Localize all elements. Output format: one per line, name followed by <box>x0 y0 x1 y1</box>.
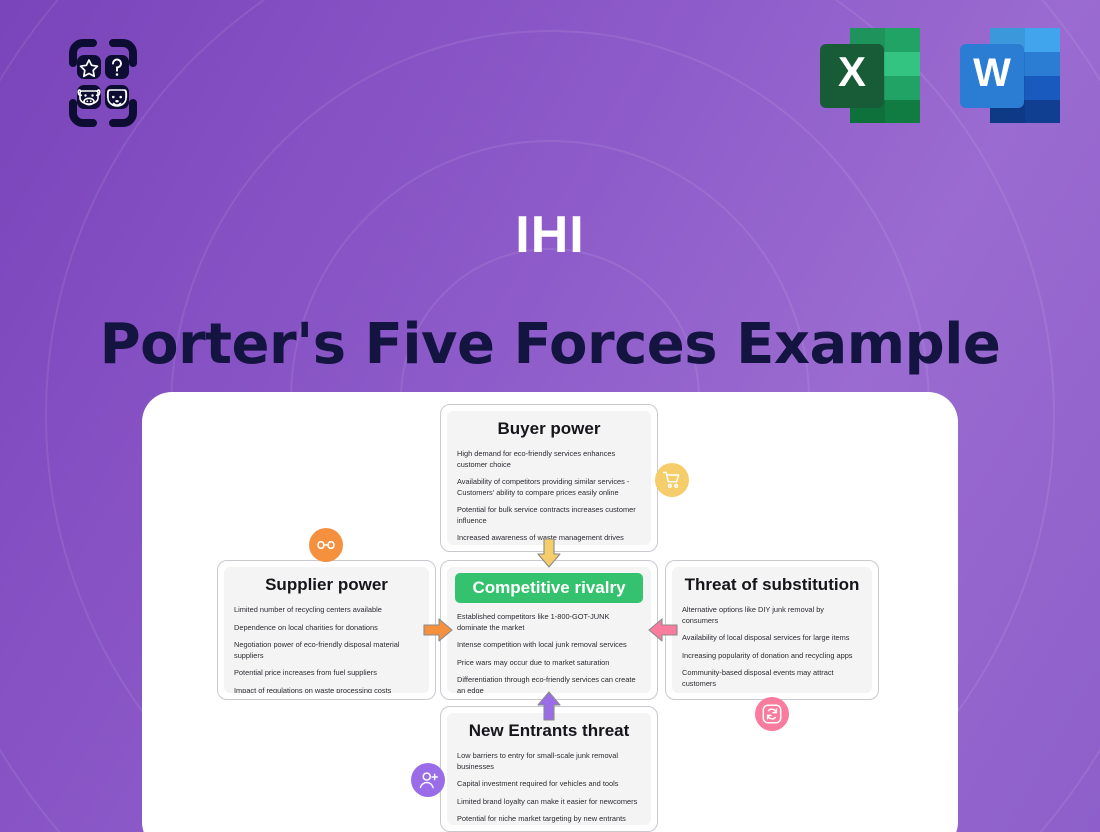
force-list-buyer-power: High demand for eco-friendly services en… <box>457 449 641 545</box>
list-item: Limited brand loyalty can make it easier… <box>457 797 641 808</box>
force-title-competitive-rivalry: Competitive rivalry <box>455 573 643 603</box>
force-title-supplier-power: Supplier power <box>234 575 419 595</box>
force-box-competitive-rivalry[interactable]: Competitive rivalry Established competit… <box>440 560 658 700</box>
arrow-left-substitution-to-rivalry <box>648 615 678 645</box>
force-title-threat-of-substitution: Threat of substitution <box>682 575 862 595</box>
porters-five-forces-diagram: Buyer power High demand for eco-friendly… <box>0 0 1100 832</box>
list-item: Negotiation power of eco-friendly dispos… <box>234 640 419 661</box>
force-box-new-entrants-threat[interactable]: New Entrants threat Low barriers to entr… <box>440 706 658 832</box>
list-item: Impact of regulations on waste processin… <box>234 686 419 693</box>
force-list-supplier-power: Limited number of recycling centers avai… <box>234 605 419 693</box>
force-list-competitive-rivalry: Established competitors like 1-800-GOT-J… <box>457 612 641 693</box>
list-item: Dependence on local charities for donati… <box>234 623 419 634</box>
badge-supplier-link-icon[interactable] <box>309 528 343 562</box>
arrow-down-buyer-to-rivalry <box>534 538 564 568</box>
list-item: Price wars may occur due to market satur… <box>457 658 641 669</box>
list-item: High demand for eco-friendly services en… <box>457 449 641 470</box>
badge-entrants-add-user-icon[interactable] <box>411 763 445 797</box>
force-title-buyer-power: Buyer power <box>457 419 641 439</box>
list-item: Established competitors like 1-800-GOT-J… <box>457 612 641 633</box>
list-item: Intense competition with local junk remo… <box>457 640 641 651</box>
badge-substitution-refresh-icon[interactable] <box>755 697 789 731</box>
list-item: Alternative options like DIY junk remova… <box>682 605 862 626</box>
list-item: Capital investment required for vehicles… <box>457 779 641 790</box>
force-title-new-entrants-threat: New Entrants threat <box>457 721 641 741</box>
list-item: Limited number of recycling centers avai… <box>234 605 419 616</box>
force-list-threat-of-substitution: Alternative options like DIY junk remova… <box>682 605 862 693</box>
list-item: Low barriers to entry for small-scale ju… <box>457 751 641 772</box>
list-item: Availability of competitors providing si… <box>457 477 641 498</box>
force-box-buyer-power[interactable]: Buyer power High demand for eco-friendly… <box>440 404 658 552</box>
list-item: Availability of local disposal services … <box>682 633 862 644</box>
list-item: Potential for bulk service contracts inc… <box>457 505 641 526</box>
list-item: Potential for niche market targeting by … <box>457 814 641 825</box>
list-item: Potential price increases from fuel supp… <box>234 668 419 679</box>
arrow-right-supplier-to-rivalry <box>423 615 453 645</box>
slide-stage: X W IHI Porter's Five Forces Example Buy… <box>0 0 1100 832</box>
badge-buyer-cart-icon[interactable] <box>655 463 689 497</box>
list-item: Increasing popularity of donation and re… <box>682 651 862 662</box>
force-list-new-entrants-threat: Low barriers to entry for small-scale ju… <box>457 751 641 825</box>
list-item: Community-based disposal events may attr… <box>682 668 862 689</box>
force-box-supplier-power[interactable]: Supplier power Limited number of recycli… <box>217 560 436 700</box>
force-box-threat-of-substitution[interactable]: Threat of substitution Alternative optio… <box>665 560 879 700</box>
arrow-up-entrants-to-rivalry <box>534 691 564 721</box>
